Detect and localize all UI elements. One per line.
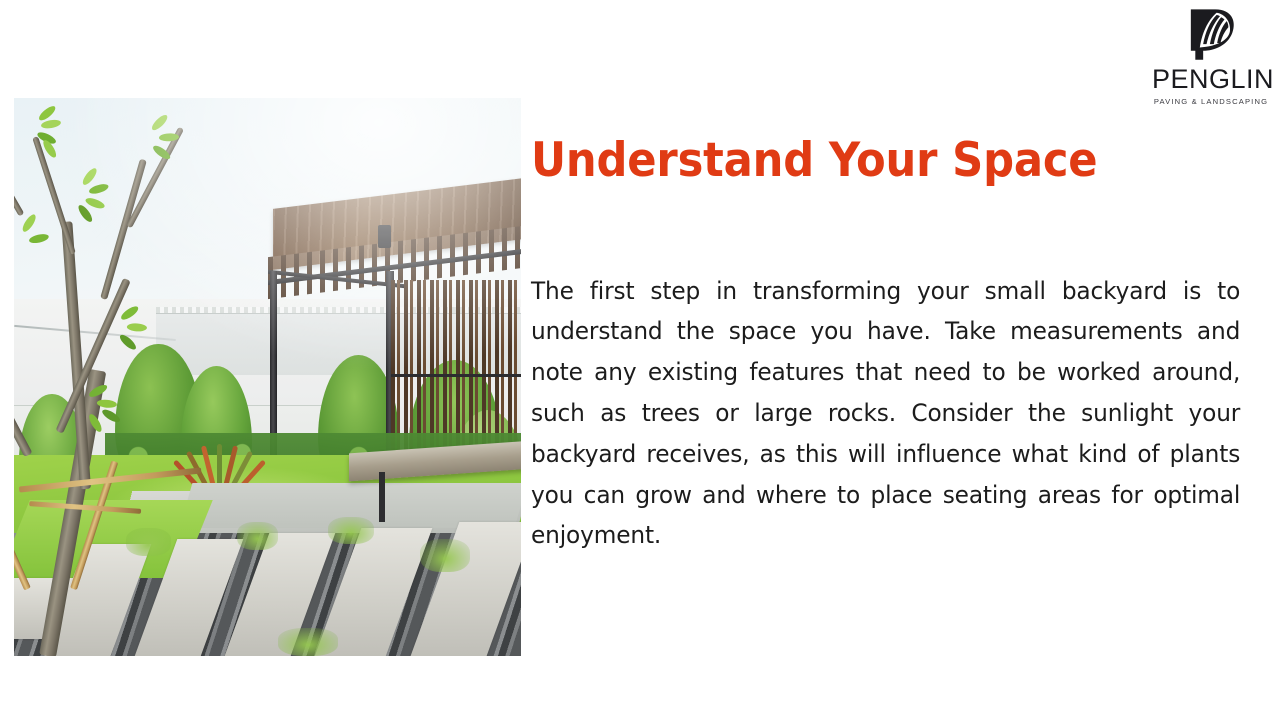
grass-tuft <box>420 539 471 572</box>
logo-wordmark: PENGLIN <box>1152 66 1270 93</box>
grass-tuft <box>237 522 278 550</box>
slide-root: PENGLIN PAVING & LANDSCAPING <box>0 0 1280 720</box>
photo-scene <box>14 98 521 656</box>
pergola-fixture <box>378 225 391 248</box>
screen-rail <box>391 374 521 377</box>
leaf-cluster <box>75 176 129 216</box>
grass-tuft <box>328 517 374 545</box>
grass-tuft <box>278 628 339 656</box>
leaf-cluster <box>85 388 139 428</box>
leaf-cluster <box>29 109 83 149</box>
leaf-cluster <box>146 120 200 160</box>
page-title: Understand Your Space <box>531 137 1193 185</box>
logo-tagline: PAVING & LANDSCAPING <box>1152 98 1270 106</box>
penglin-p-road-mark-icon <box>1183 6 1239 62</box>
bench-leg <box>379 472 385 522</box>
backyard-photo <box>14 98 521 656</box>
leaf-cluster <box>19 221 73 261</box>
body-paragraph: The first step in transforming your smal… <box>531 271 1240 557</box>
leaf-cluster <box>115 310 169 350</box>
brand-logo: PENGLIN PAVING & LANDSCAPING <box>1152 6 1270 106</box>
